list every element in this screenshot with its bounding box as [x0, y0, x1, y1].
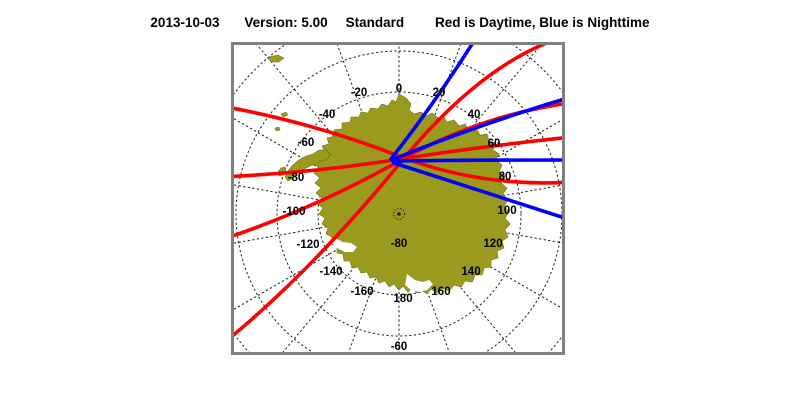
longitude-label-5: 100	[497, 205, 516, 217]
longitude-label-12: -120	[296, 239, 319, 251]
longitude-label-15: -60	[298, 137, 315, 149]
longitude-label-6: 120	[483, 238, 502, 250]
longitude-label-16: -40	[319, 109, 336, 121]
nighttime-track-3	[393, 160, 565, 161]
title-product: Standard	[346, 15, 405, 30]
longitude-label-13: -100	[282, 206, 305, 218]
longitude-label-17: -20	[351, 87, 368, 99]
longitude-label-0: 0	[396, 83, 402, 95]
island-small-2	[275, 127, 280, 131]
longitude-label-10: -160	[350, 286, 373, 298]
screenshot-root: 2013-10-03 Version: 5.00 Standard Red is…	[0, 0, 800, 400]
longitude-label-8: 160	[431, 286, 450, 298]
title-version: Version: 5.00	[244, 15, 327, 30]
longitude-label-1: 20	[433, 87, 446, 99]
latitude-label-1: -60	[391, 341, 408, 353]
latitude-label-0: -80	[391, 238, 408, 250]
title-date: 2013-10-03	[150, 15, 219, 30]
longitude-label-4: 80	[499, 171, 512, 183]
longitude-label-3: 60	[488, 138, 501, 150]
plot-title: 2013-10-03 Version: 5.00 Standard Red is…	[0, 14, 800, 32]
longitude-label-9: 180	[393, 293, 412, 305]
longitude-label-2: 40	[468, 109, 481, 121]
map-plot-area: 020406080100120140160180-160-140-120-100…	[231, 42, 565, 355]
longitude-label-11: -140	[319, 266, 342, 278]
title-legend-note: Red is Daytime, Blue is Nighttime	[435, 15, 650, 30]
antarctica-map-svg: 020406080100120140160180-160-140-120-100…	[231, 42, 565, 355]
longitude-label-7: 140	[461, 266, 480, 278]
longitude-label-14: -80	[288, 172, 305, 184]
